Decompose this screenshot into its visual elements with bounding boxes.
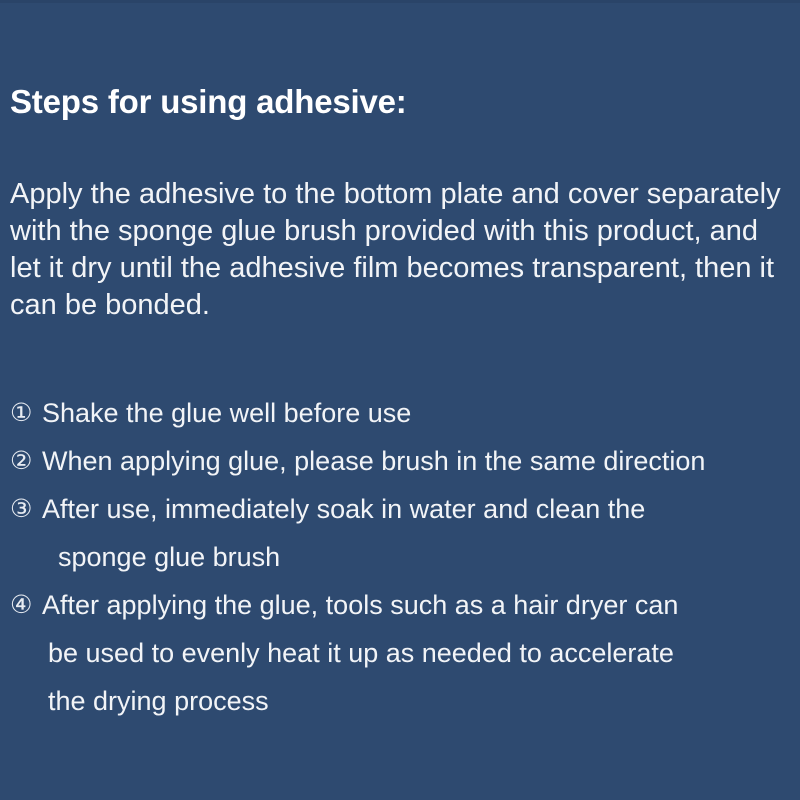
list-item-line: After use, immediately soak in water and…: [42, 494, 645, 524]
circled-digit-four-icon: ④: [10, 581, 42, 629]
circled-digit-three-icon: ③: [10, 485, 42, 533]
list-item: ④After applying the glue, tools such as …: [10, 581, 800, 725]
list-item-label: After use, immediately soak in water and…: [42, 485, 800, 581]
list-item-line: the drying process: [42, 677, 800, 725]
list-item: ③After use, immediately soak in water an…: [10, 485, 800, 581]
list-item-label: When applying glue, please brush in the …: [42, 437, 800, 485]
adhesive-instructions-card: Steps for using adhesive: Apply the adhe…: [0, 0, 800, 800]
intro-paragraph: Apply the adhesive to the bottom plate a…: [10, 176, 790, 324]
list-item-label: After applying the glue, tools such as a…: [42, 581, 800, 725]
circled-digit-one-icon: ①: [10, 389, 42, 437]
steps-list: ①Shake the glue well before use②When app…: [10, 389, 800, 725]
list-item: ②When applying glue, please brush in the…: [10, 437, 800, 485]
list-item-label: Shake the glue well before use: [42, 389, 800, 437]
list-item-line: sponge glue brush: [42, 533, 800, 581]
circled-digit-two-icon: ②: [10, 437, 42, 485]
top-edge-shade: [0, 0, 800, 3]
list-item-line: After applying the glue, tools such as a…: [42, 590, 678, 620]
list-item-line: When applying glue, please brush in the …: [42, 446, 705, 476]
page-title: Steps for using adhesive:: [10, 82, 407, 122]
list-item-line: Shake the glue well before use: [42, 398, 411, 428]
list-item-line: be used to evenly heat it up as needed t…: [42, 629, 800, 677]
list-item: ①Shake the glue well before use: [10, 389, 800, 437]
